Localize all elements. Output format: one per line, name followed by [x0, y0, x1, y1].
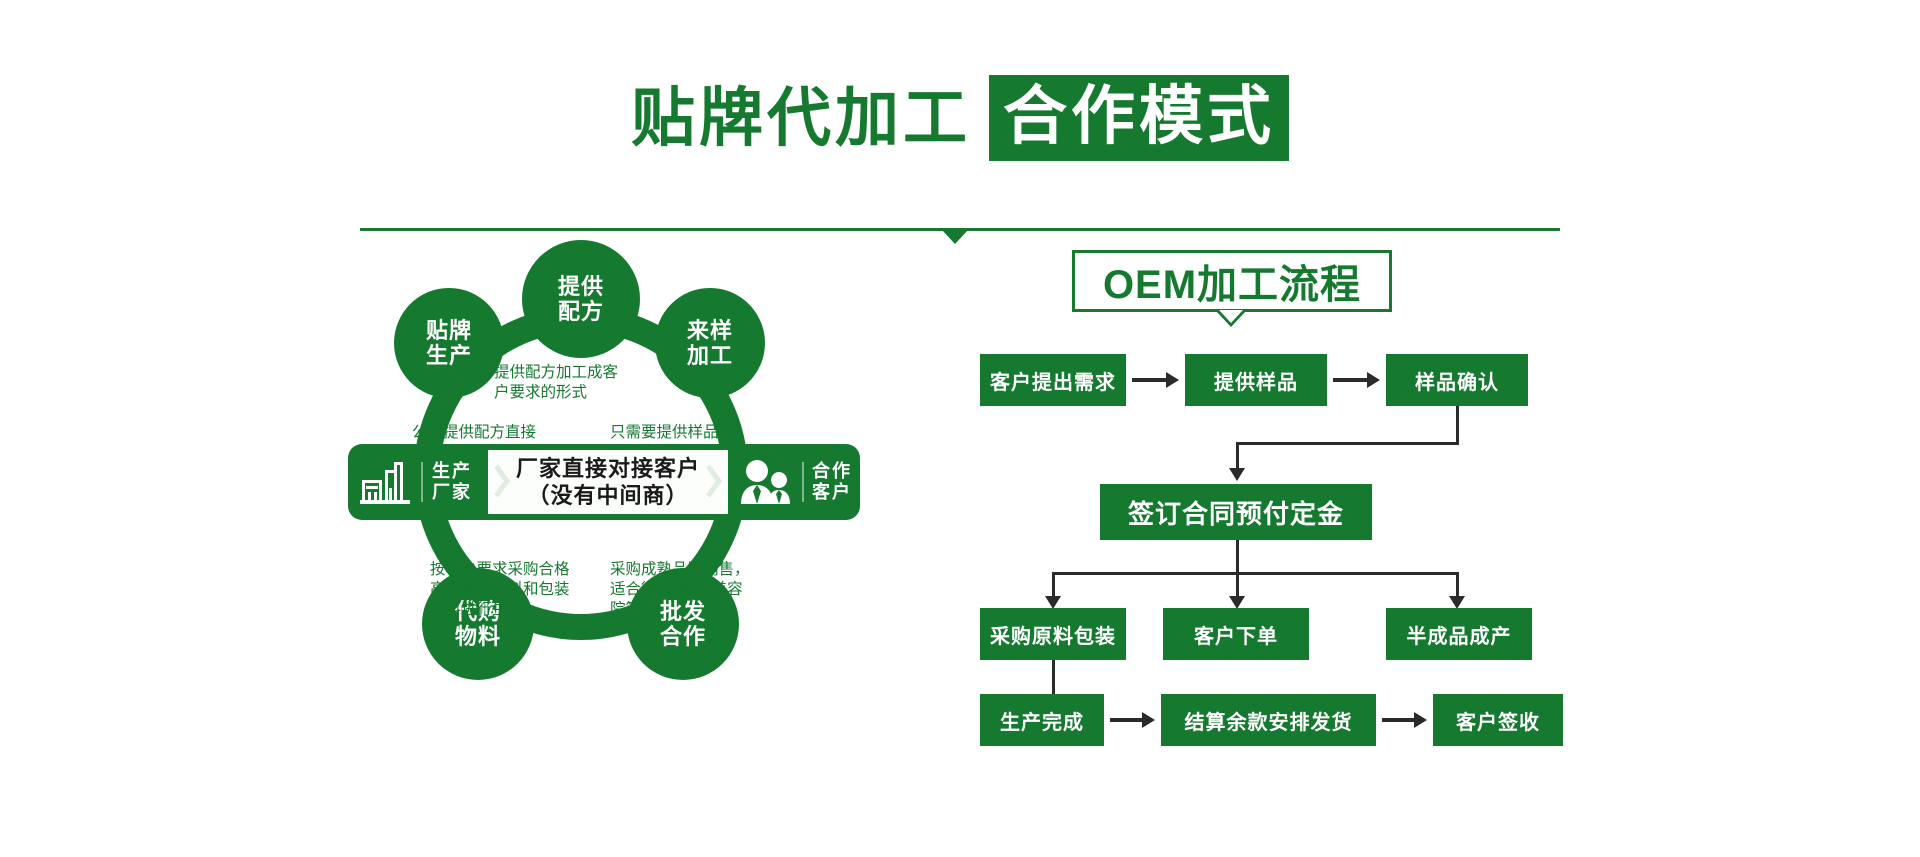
- factory-label: 生产 厂家: [432, 461, 472, 503]
- cycle-desc-wholesale: 采购成熟品牌销售， 适合微商/网站/美容 院等: [610, 560, 750, 620]
- flow-box-semi-finished-production[interactable]: 半成品成产: [1386, 608, 1532, 660]
- factory-separator: [421, 462, 423, 502]
- flow-arrow-line: [1333, 378, 1367, 382]
- flow-arrow-head-icon: [1367, 372, 1380, 388]
- factory-label-line2: 厂家: [432, 482, 472, 503]
- center-message-line1: 厂家直接对接客户: [516, 455, 700, 482]
- oem-heading-text: OEM加工流程: [1103, 252, 1361, 310]
- oem-heading-box: OEM加工流程: [1072, 250, 1392, 312]
- center-message: 厂家直接对接客户 （没有中间商）: [488, 450, 728, 514]
- client-side: 合作 客户: [728, 444, 860, 520]
- chevron-right-icon: [494, 464, 510, 498]
- cycle-diagram: 提供 配方 贴牌 生产 来样 加工 代购 物料 批发 合作 提供配方加工成客 户…: [352, 258, 872, 768]
- flow-connector-vertical: [1236, 572, 1239, 598]
- node-label-line1: 贴牌: [426, 318, 472, 343]
- title-divider: [360, 228, 1560, 250]
- center-message-text: 厂家直接对接客户 （没有中间商）: [516, 455, 700, 509]
- node-label-line2: 配方: [558, 299, 604, 324]
- flow-connector-vertical: [1456, 572, 1459, 598]
- node-label-line2: 生产: [426, 343, 472, 368]
- client-label-line2: 客户: [812, 482, 852, 503]
- cycle-desc-material-purchase: 按客户要求采购合格 高质量的原料和包装 材料进行生产: [430, 560, 570, 620]
- page-title-plain: 贴牌代加工: [631, 79, 971, 157]
- chevron-right-icon: [706, 464, 722, 498]
- cycle-node-sample-processing[interactable]: 来样 加工: [655, 288, 765, 398]
- node-label-line1: 来样: [687, 318, 733, 343]
- cycle-desc-provide-formula: 提供配方加工成客 户要求的形式: [494, 363, 618, 403]
- flow-arrow-head-icon: [1229, 468, 1245, 481]
- flow-connector-vertical: [1456, 406, 1459, 444]
- center-message-line2: （没有中间商）: [516, 482, 700, 509]
- node-label-line2: 物料: [455, 624, 501, 649]
- flow-connector-vertical: [1052, 572, 1055, 598]
- flow-connector-vertical: [1236, 442, 1239, 470]
- flow-box-production-complete[interactable]: 生产完成: [980, 694, 1104, 746]
- client-label: 合作 客户: [812, 461, 852, 503]
- cycle-node-oem-production[interactable]: 贴牌 生产: [394, 288, 504, 398]
- node-label-line2: 加工: [687, 343, 733, 368]
- flow-arrow-head-icon: [1166, 372, 1179, 388]
- flow-box-provide-sample[interactable]: 提供样品: [1185, 354, 1327, 406]
- oem-caret-inner-icon: [1219, 310, 1243, 323]
- flow-connector-horizontal: [1236, 442, 1459, 445]
- flow-box-settle-balance-ship[interactable]: 结算余款安排发货: [1161, 694, 1376, 746]
- flow-arrow-line: [1110, 718, 1142, 722]
- page-title: 贴牌代加工 合作模式: [0, 78, 1920, 158]
- flow-box-sample-confirm[interactable]: 样品确认: [1386, 354, 1528, 406]
- direct-connection-bar: 生产 厂家 厂家直接对接客户 （没有中间商）: [348, 444, 860, 520]
- node-label-line1: 提供: [558, 274, 604, 299]
- flow-box-customer-order[interactable]: 客户下单: [1163, 608, 1309, 660]
- flow-arrow-head-icon: [1414, 712, 1427, 728]
- oem-flowchart: OEM加工流程 客户提出需求 提供样品 样品确认 签订合同预付定金 采购原料包装…: [980, 258, 1600, 758]
- client-separator: [802, 462, 804, 502]
- factory-side: 生产 厂家: [348, 444, 488, 520]
- flow-connector-vertical: [1236, 540, 1239, 574]
- divider-caret-icon: [942, 230, 968, 244]
- node-label-line2: 合作: [660, 624, 706, 649]
- cycle-node-provide-formula[interactable]: 提供 配方: [522, 240, 640, 358]
- factory-label-line1: 生产: [432, 461, 472, 482]
- flow-connector-horizontal: [1052, 572, 1458, 575]
- page-title-boxed: 合作模式: [989, 75, 1289, 161]
- customers-icon: [736, 458, 794, 506]
- factory-icon: [358, 458, 412, 506]
- client-label-line1: 合作: [812, 461, 852, 482]
- flow-arrow-line: [1382, 718, 1414, 722]
- flow-box-customer-request[interactable]: 客户提出需求: [980, 354, 1126, 406]
- flow-box-purchase-materials[interactable]: 采购原料包装: [980, 608, 1126, 660]
- flow-box-sign-contract-deposit[interactable]: 签订合同预付定金: [1100, 484, 1372, 540]
- flow-box-customer-receipt[interactable]: 客户签收: [1433, 694, 1563, 746]
- flow-arrow-line: [1132, 378, 1166, 382]
- flow-arrow-head-icon: [1142, 712, 1155, 728]
